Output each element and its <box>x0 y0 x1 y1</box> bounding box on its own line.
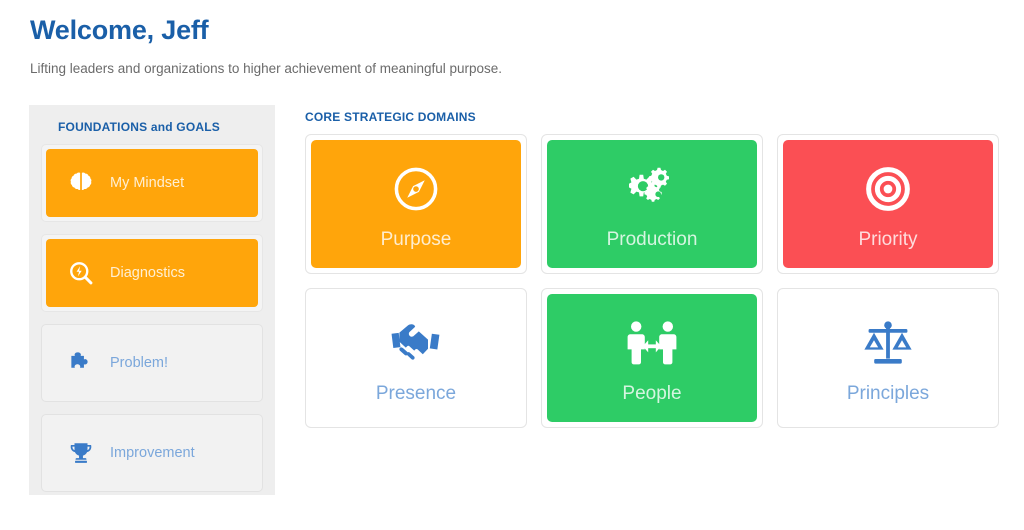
tile-label: Principles <box>847 384 929 403</box>
core-strategic-domains-panel: CORE STRATEGIC DOMAINS Purpose <box>305 105 1005 428</box>
page-header: Welcome, Jeff Lifting leaders and organi… <box>30 14 990 78</box>
tile-label: Presence <box>376 384 456 403</box>
puzzle-piece-icon <box>66 348 96 378</box>
tile-label: Purpose <box>381 230 452 249</box>
content-area: FOUNDATIONS and GOALS My Mindset <box>0 105 1024 530</box>
sidebar-item-label: Problem! <box>110 356 168 371</box>
main-section-label: CORE STRATEGIC DOMAINS <box>305 110 1005 124</box>
sidebar-item-label: My Mindset <box>110 176 184 191</box>
compass-icon <box>391 161 441 217</box>
sidebar-section-label: FOUNDATIONS and GOALS <box>58 120 263 134</box>
diagnostics-icon <box>66 258 96 288</box>
tile-label: Production <box>607 230 698 249</box>
tile-people[interactable]: People <box>541 288 763 428</box>
page-tagline: Lifting leaders and organizations to hig… <box>30 60 990 78</box>
tile-production[interactable]: Production <box>541 134 763 274</box>
brain-icon <box>66 168 96 198</box>
tile-label: Priority <box>858 230 917 249</box>
scales-icon <box>862 315 914 371</box>
bullseye-icon <box>863 161 913 217</box>
sidebar-item-label: Diagnostics <box>110 266 185 281</box>
foundations-and-goals-panel: FOUNDATIONS and GOALS My Mindset <box>29 105 275 495</box>
people-arrows-icon <box>626 315 678 371</box>
trophy-icon <box>66 438 96 468</box>
handshake-icon <box>390 315 442 371</box>
tile-presence[interactable]: Presence <box>305 288 527 428</box>
tile-principles[interactable]: Principles <box>777 288 999 428</box>
sidebar-item-problem[interactable]: Problem! <box>41 324 263 402</box>
tile-purpose[interactable]: Purpose <box>305 134 527 274</box>
tile-label: People <box>622 384 681 403</box>
page-title: Welcome, Jeff <box>30 14 990 46</box>
sidebar-item-my-mindset[interactable]: My Mindset <box>41 144 263 222</box>
sidebar-item-diagnostics[interactable]: Diagnostics <box>41 234 263 312</box>
domain-tile-grid: Purpose Prod <box>305 134 1005 428</box>
tile-priority[interactable]: Priority <box>777 134 999 274</box>
sidebar-item-improvement[interactable]: Improvement <box>41 414 263 492</box>
sidebar-item-label: Improvement <box>110 446 195 461</box>
cogs-icon <box>626 161 678 217</box>
